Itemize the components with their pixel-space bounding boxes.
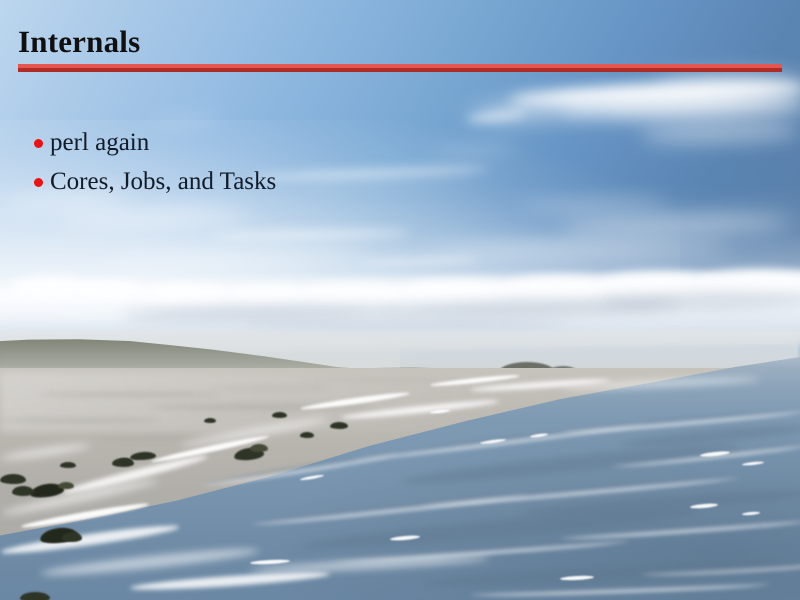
seaweed-clump (272, 412, 287, 418)
bullet-item-label: Cores, Jobs, and Tasks (50, 167, 276, 197)
presentation-slide: Internals perl again Cores, Jobs, and Ta… (0, 0, 800, 600)
seaweed-clump (250, 444, 268, 452)
title-divider-rule (18, 64, 782, 72)
cloud-bank-bump (300, 284, 410, 302)
bullet-dot-icon (34, 139, 43, 148)
list-item: Cores, Jobs, and Tasks (34, 167, 764, 197)
seaweed-clump (0, 474, 26, 484)
cloud-bank-bump (140, 284, 230, 302)
bullet-list: perl again Cores, Jobs, and Tasks (34, 128, 764, 206)
seaweed-clump (60, 462, 76, 468)
seaweed-clump (300, 432, 314, 438)
seaweed-clump (12, 486, 34, 496)
bullet-item-label: perl again (50, 128, 149, 158)
seaweed-clump (330, 422, 348, 429)
cloud-bank-bump (400, 280, 520, 300)
beach-background-photo (0, 0, 800, 600)
seaweed-clump (204, 418, 216, 423)
cloud-bank-bump (505, 276, 615, 298)
cloud-bank-bump (74, 280, 144, 298)
slide-title: Internals (18, 24, 140, 60)
sand-texture-streak (210, 386, 330, 390)
bullet-dot-icon (34, 178, 43, 187)
sand-texture-streak (40, 392, 220, 397)
rule-shadow-band (18, 68, 782, 72)
seaweed-clump (20, 592, 50, 600)
cloud-bank-bump (228, 286, 308, 302)
sand-texture-streak (300, 378, 460, 382)
seaweed-clump (62, 532, 82, 542)
seaweed-clump (58, 482, 74, 489)
sand-texture-streak (0, 418, 160, 423)
list-item: perl again (34, 128, 764, 158)
